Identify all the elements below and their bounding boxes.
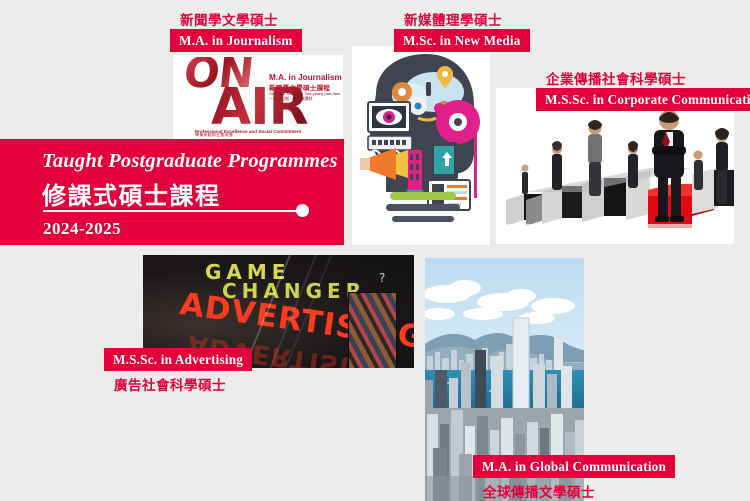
label-chinese-corporate-communication: 企業傳播社會科學碩士	[546, 68, 686, 88]
corporate-communication-photo	[496, 88, 734, 244]
programme-card-new-media[interactable]	[352, 46, 490, 245]
adv-question-mark: ?	[379, 271, 385, 285]
poster-fineprint-2: 一年全日制 / 兩年兼讀制	[269, 96, 312, 102]
label-english-global-communication[interactable]: M.A. in Global Communication	[473, 455, 675, 478]
programme-card-corporate-communication[interactable]	[496, 88, 734, 244]
label-chinese-global-communication: 全球傳播文學碩士	[483, 481, 595, 501]
banner-english-title: Taught Postgraduate Programmes	[42, 150, 338, 173]
poster-footer-cn: 專業卓越與社會承擔	[195, 132, 233, 138]
head-profile-media-icons-svg	[352, 46, 490, 245]
banner-chinese-title: 修課式碩士課程	[42, 176, 221, 211]
main-banner: Taught Postgraduate Programmes 修課式碩士課程 2…	[0, 139, 344, 245]
journalism-poster-image: ON AIR M.A. in Journalism 新聞學文學碩士課程 One-…	[173, 55, 343, 139]
label-chinese-new-media: 新媒體理學碩士	[404, 9, 502, 29]
programme-card-journalism[interactable]: ON AIR M.A. in Journalism 新聞學文學碩士課程 One-…	[173, 55, 343, 139]
label-english-new-media[interactable]: M.Sc. in New Media	[394, 29, 530, 52]
banner-academic-year: 2024-2025	[43, 219, 121, 239]
poster-canvas: ON AIR M.A. in Journalism 新聞學文學碩士課程 One-…	[0, 0, 750, 501]
banner-end-dot	[296, 204, 309, 217]
poster-title: M.A. in Journalism	[269, 73, 342, 82]
label-english-advertising[interactable]: M.S.Sc. in Advertising	[104, 348, 252, 371]
banner-divider	[43, 210, 306, 212]
label-english-corporate-communication[interactable]: M.S.Sc. in Corporate Communication	[536, 88, 750, 111]
label-chinese-advertising: 廣告社會科學碩士	[114, 374, 226, 394]
business-people-on-cubes-svg	[496, 88, 734, 244]
new-media-illustration	[352, 46, 490, 245]
label-english-journalism[interactable]: M.A. in Journalism	[170, 29, 302, 52]
adv-wall-collage	[349, 293, 396, 368]
label-chinese-journalism: 新聞學文學碩士	[180, 9, 278, 29]
